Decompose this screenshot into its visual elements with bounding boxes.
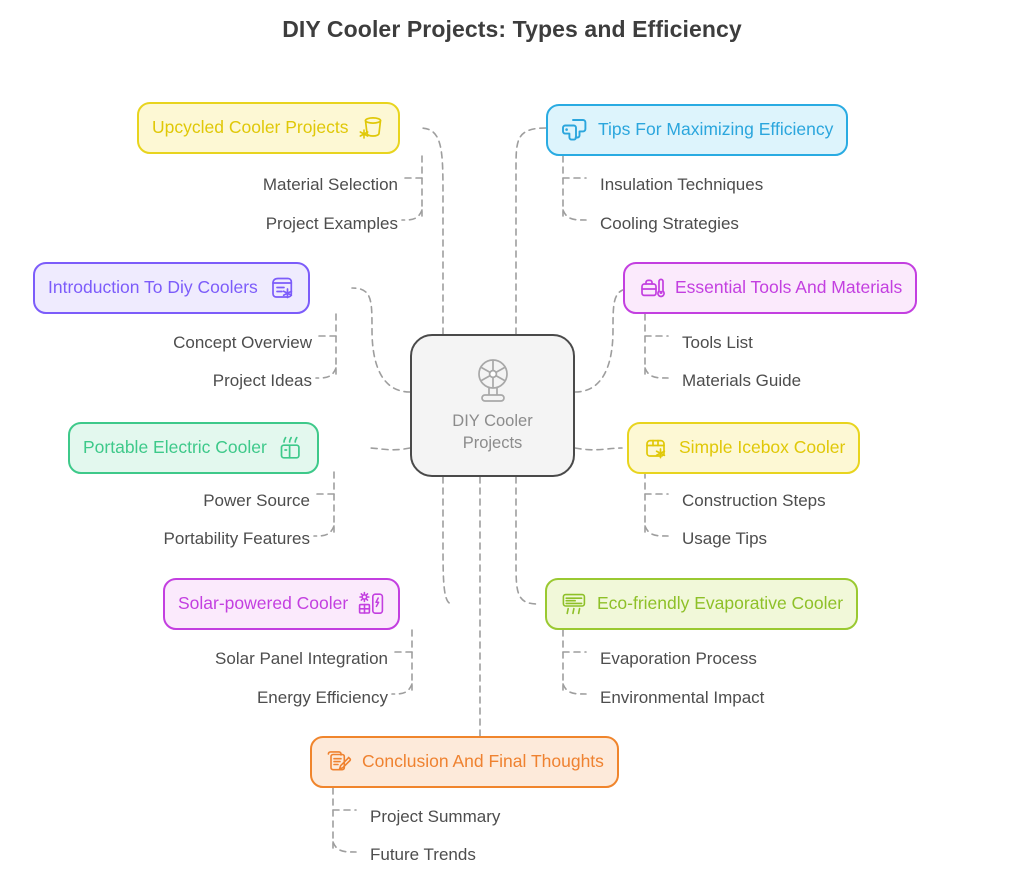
node-icebox-label: Simple Icebox Cooler [679,439,845,457]
link-center-tips [516,128,546,334]
node-upcycled[interactable]: Upcycled Cooler Projects [137,102,400,154]
link-center-portable [368,448,410,450]
sub-item-energy-efficiency[interactable]: Energy Efficiency [257,689,388,706]
sub-item-material-selection[interactable]: Material Selection [263,176,398,193]
central-node-label: DIY Cooler Projects [428,411,558,455]
node-tips[interactable]: Tips For Maximizing Efficiency [546,104,848,156]
sublink-portable-1 [314,526,334,536]
mindmap-canvas: DIY Cooler Projects: Types and Efficienc… [0,0,1024,894]
sublink-evaporative-1 [563,684,586,694]
bucket-snowflake-icon [357,114,385,142]
sub-item-project-summary[interactable]: Project Summary [370,808,500,825]
fan-icon [470,357,516,407]
sublink-tips-1 [563,210,586,220]
cooler-steam-icon [276,434,304,462]
node-conclusion-label: Conclusion And Final Thoughts [362,753,604,771]
solar-panel-battery-icon [357,590,385,618]
sub-item-usage-tips[interactable]: Usage Tips [682,530,767,547]
sublink-solar-1 [392,684,412,694]
sublink-conclusion-1 [333,842,356,852]
sub-item-materials-guide[interactable]: Materials Guide [682,372,801,389]
sub-item-future-trends[interactable]: Future Trends [370,846,476,863]
node-introduction[interactable]: Introduction To Diy Coolers [33,262,310,314]
sub-item-project-ideas[interactable]: Project Ideas [213,372,312,389]
sub-item-power-source[interactable]: Power Source [203,492,310,509]
document-snowflake-icon [267,274,295,302]
sub-item-insulation-techniques[interactable]: Insulation Techniques [600,176,763,193]
page-title: DIY Cooler Projects: Types and Efficienc… [0,16,1024,43]
notes-pen-icon [325,748,353,776]
node-portable[interactable]: Portable Electric Cooler [68,422,319,474]
node-upcycled-label: Upcycled Cooler Projects [152,119,348,137]
node-conclusion[interactable]: Conclusion And Final Thoughts [310,736,619,788]
central-node[interactable]: DIY Cooler Projects [410,334,575,477]
node-introduction-label: Introduction To Diy Coolers [48,279,258,297]
sub-item-portability-features[interactable]: Portability Features [164,530,310,547]
sub-item-tools-list[interactable]: Tools List [682,334,753,351]
sub-item-environmental-impact[interactable]: Environmental Impact [600,689,764,706]
link-center-icebox [575,448,622,450]
sub-item-concept-overview[interactable]: Concept Overview [173,334,312,351]
node-tools-label: Essential Tools And Materials [675,279,902,297]
node-solar[interactable]: Solar-powered Cooler [163,578,400,630]
sub-item-evaporation-process[interactable]: Evaporation Process [600,650,757,667]
sublink-upcycled-1 [402,210,422,220]
link-center-solar [443,477,452,604]
sublink-introduction-1 [316,368,336,378]
toolbox-thermometer-icon [638,274,666,302]
node-evaporative[interactable]: Eco-friendly Evaporative Cooler [545,578,858,630]
sublink-tools-1 [645,368,668,378]
icebox-snowflake-icon [642,434,670,462]
node-evaporative-label: Eco-friendly Evaporative Cooler [597,595,843,613]
node-solar-label: Solar-powered Cooler [178,595,348,613]
node-tools[interactable]: Essential Tools And Materials [623,262,917,314]
node-portable-label: Portable Electric Cooler [83,439,267,457]
node-tips-label: Tips For Maximizing Efficiency [598,121,833,139]
link-center-upcycled [420,128,443,334]
node-icebox[interactable]: Simple Icebox Cooler [627,422,860,474]
sub-item-construction-steps[interactable]: Construction Steps [682,492,826,509]
speech-bubbles-icon [561,116,589,144]
link-center-evaporative [516,477,538,604]
sublink-icebox-1 [645,526,668,536]
ac-unit-icon [560,590,588,618]
sub-item-solar-panel-integration[interactable]: Solar Panel Integration [215,650,388,667]
link-center-introduction [352,288,410,392]
sub-item-cooling-strategies[interactable]: Cooling Strategies [600,215,739,232]
sub-item-project-examples[interactable]: Project Examples [266,215,398,232]
